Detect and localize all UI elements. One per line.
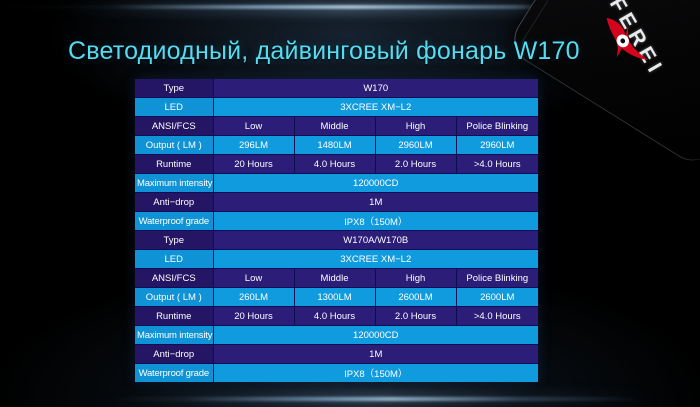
row-value: 1M xyxy=(213,345,538,364)
row-cell: 4.0 Hours xyxy=(294,155,375,174)
row-cell: 2960LM xyxy=(456,136,538,155)
table-row: Runtime20 Hours4.0 Hours2.0 Hours>4.0 Ho… xyxy=(135,307,538,326)
row-value: W170A/W170B xyxy=(213,231,538,250)
row-cell: 20 Hours xyxy=(213,307,294,326)
row-cell: >4.0 Hours xyxy=(456,307,538,326)
row-label: Type xyxy=(135,231,213,250)
table-row: LED3XCREE XM−L2 xyxy=(135,250,538,269)
row-label: Output ( LM ) xyxy=(135,288,213,307)
table-row: Waterproof gradeIPX8（150M） xyxy=(135,364,538,383)
bottom-light-streak xyxy=(0,397,700,401)
row-cell: Middle xyxy=(294,117,375,136)
row-cell: 2.0 Hours xyxy=(375,307,456,326)
row-cell: 2.0 Hours xyxy=(375,155,456,174)
table-row: TypeW170A/W170B xyxy=(135,231,538,250)
row-cell: High xyxy=(375,117,456,136)
row-value: 120000CD xyxy=(213,326,538,345)
row-label: Maximum intensity xyxy=(135,174,213,193)
table-row: ANSI/FCSLowMiddleHighPolice Blinking xyxy=(135,269,538,288)
row-label: Type xyxy=(135,79,213,98)
row-label: Runtime xyxy=(135,155,213,174)
row-value: 3XCREE XM−L2 xyxy=(213,98,538,117)
row-cell: 296LM xyxy=(213,136,294,155)
row-label: Maximum intensity xyxy=(135,326,213,345)
row-value: IPX8（150M） xyxy=(213,364,538,383)
page-title: Светодиодный, дайвинговый фонарь W170 xyxy=(68,37,580,66)
row-label: Runtime xyxy=(135,307,213,326)
row-cell: Low xyxy=(213,269,294,288)
row-label: ANSI/FCS xyxy=(135,117,213,136)
row-value: 1M xyxy=(213,193,538,212)
row-label: LED xyxy=(135,98,213,117)
table-row: Output ( LM )260LM1300LM2600LM2600LM xyxy=(135,288,538,307)
table-row: Runtime20 Hours4.0 Hours2.0 Hours>4.0 Ho… xyxy=(135,155,538,174)
table-row: Output ( LM )296LM1480LM2960LM2960LM xyxy=(135,136,538,155)
row-label: ANSI/FCS xyxy=(135,269,213,288)
row-cell: 1300LM xyxy=(294,288,375,307)
row-value: IPX8（150M） xyxy=(213,212,538,231)
row-cell: Low xyxy=(213,117,294,136)
row-label: LED xyxy=(135,250,213,269)
row-label: Waterproof grade xyxy=(135,364,213,383)
row-cell: 2600LM xyxy=(375,288,456,307)
row-label: Anti−drop xyxy=(135,193,213,212)
table-row: Maximum intensity120000CD xyxy=(135,326,538,345)
row-cell: 20 Hours xyxy=(213,155,294,174)
specifications-table-body: TypeW170LED3XCREE XM−L2ANSI/FCSLowMiddle… xyxy=(135,79,538,382)
row-value: 3XCREE XM−L2 xyxy=(213,250,538,269)
table-row: Anti−drop1M xyxy=(135,345,538,364)
row-label: Output ( LM ) xyxy=(135,136,213,155)
row-label: Anti−drop xyxy=(135,345,213,364)
table-row: Anti−drop1M xyxy=(135,193,538,212)
row-cell: 4.0 Hours xyxy=(294,307,375,326)
row-cell: Police Blinking xyxy=(456,117,538,136)
table-row: LED3XCREE XM−L2 xyxy=(135,98,538,117)
row-cell: >4.0 Hours xyxy=(456,155,538,174)
bottom-light-glow xyxy=(0,390,700,407)
row-cell: Police Blinking xyxy=(456,269,538,288)
table-row: Maximum intensity120000CD xyxy=(135,174,538,193)
row-cell: 260LM xyxy=(213,288,294,307)
row-cell: 2960LM xyxy=(375,136,456,155)
row-label: Waterproof grade xyxy=(135,212,213,231)
row-cell: High xyxy=(375,269,456,288)
specifications-table: TypeW170LED3XCREE XM−L2ANSI/FCSLowMiddle… xyxy=(135,79,538,382)
row-cell: 2600LM xyxy=(456,288,538,307)
table-row: TypeW170 xyxy=(135,79,538,98)
row-value: 120000CD xyxy=(213,174,538,193)
row-value: W170 xyxy=(213,79,538,98)
row-cell: Middle xyxy=(294,269,375,288)
table-row: ANSI/FCSLowMiddleHighPolice Blinking xyxy=(135,117,538,136)
row-cell: 1480LM xyxy=(294,136,375,155)
presentation-slide: FEREI Светодиодный, дайвинговый фонарь W… xyxy=(0,0,700,407)
table-row: Waterproof gradeIPX8（150M） xyxy=(135,212,538,231)
